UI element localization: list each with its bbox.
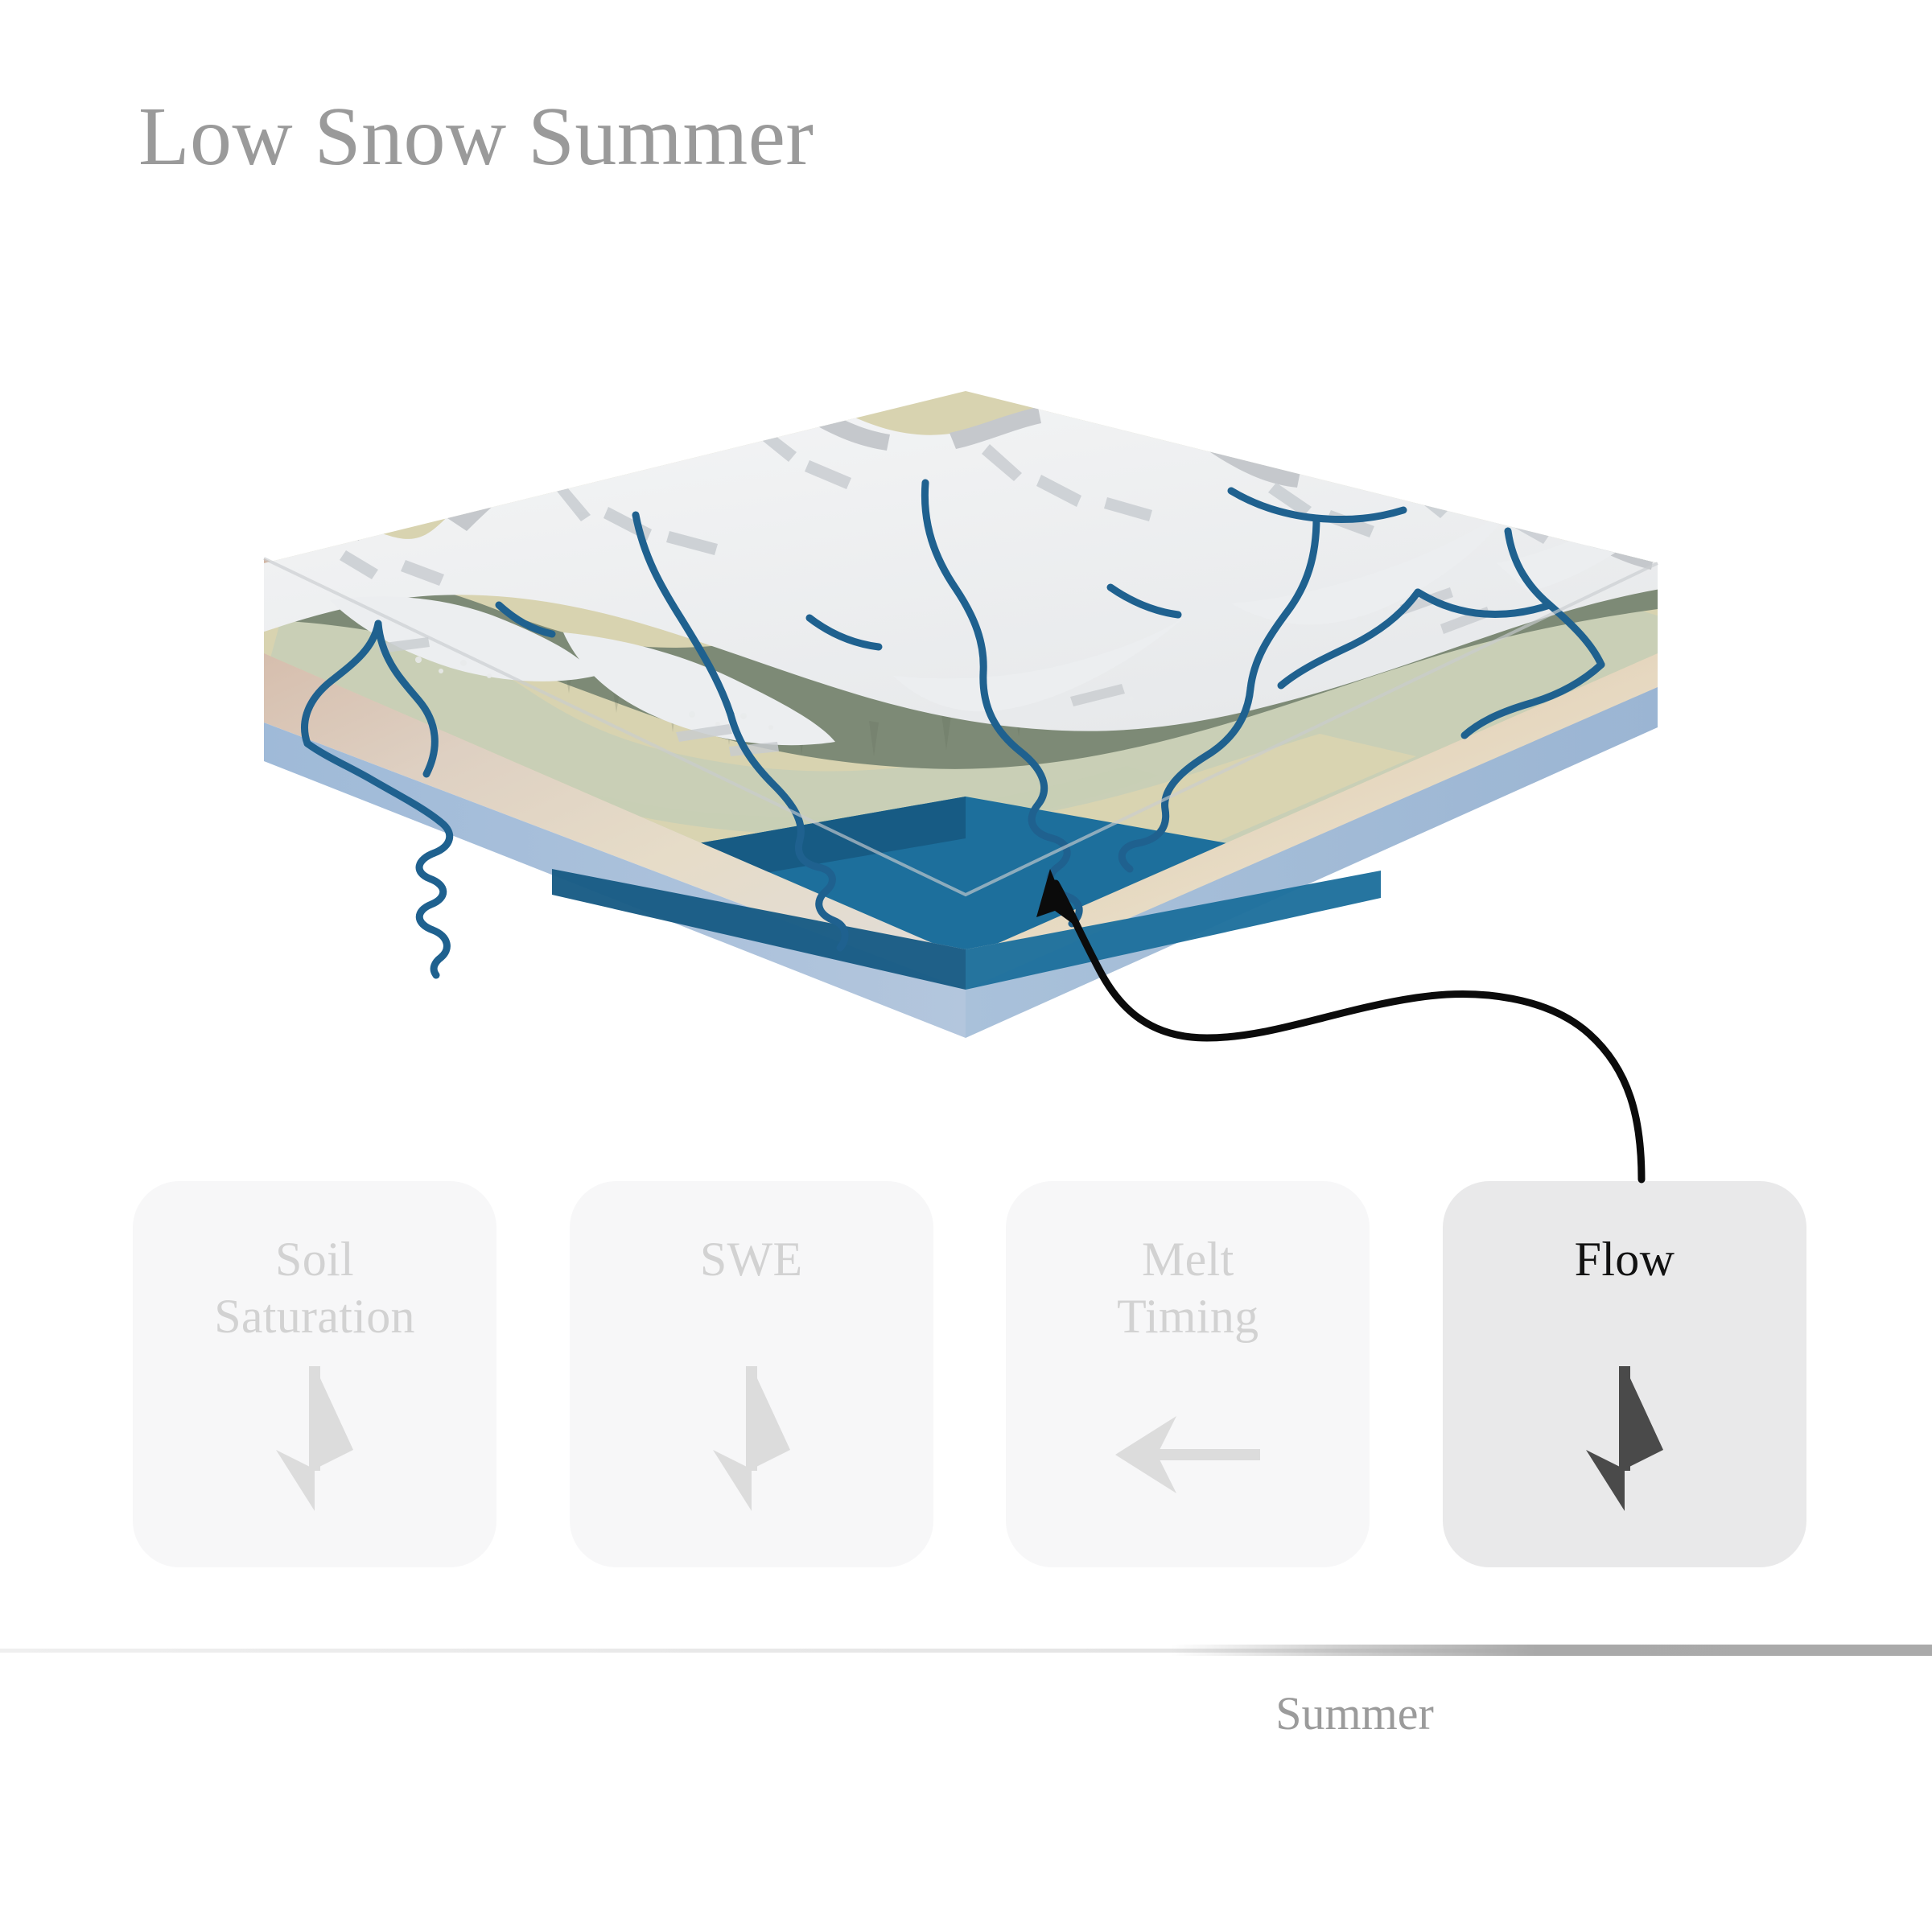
metric-card-swe[interactable]: SWE [570, 1181, 933, 1567]
metric-card-row: Soil Saturation SWE [133, 1181, 1806, 1567]
page-title: Low Snow Summer [138, 95, 814, 179]
card-label-swe: SWE [700, 1231, 803, 1288]
metric-card-melt-timing[interactable]: Melt Timing [1006, 1181, 1370, 1567]
block-top-surface [241, 362, 1670, 949]
scene-root: Low Snow Summer [0, 0, 1932, 1931]
season-label: Summer [1275, 1687, 1434, 1740]
metric-card-flow[interactable]: Flow [1443, 1181, 1806, 1567]
metric-card-soil-saturation[interactable]: Soil Saturation [133, 1181, 496, 1567]
arrow-down-icon [570, 1366, 933, 1511]
arrow-left-icon [1006, 1398, 1370, 1511]
arrow-down-icon [1443, 1366, 1806, 1511]
card-label-melt-timing: Melt Timing [1117, 1231, 1258, 1345]
card-label-flow: Flow [1575, 1231, 1675, 1288]
season-label-wrap: Summer [0, 1686, 1932, 1740]
arrow-down-icon [133, 1366, 496, 1511]
season-timeline[interactable] [0, 1645, 1932, 1656]
card-label-soil-saturation: Soil Saturation [214, 1231, 415, 1345]
timeline-active-segment [1171, 1645, 1932, 1656]
watershed-block-illustration [0, 241, 1932, 1094]
